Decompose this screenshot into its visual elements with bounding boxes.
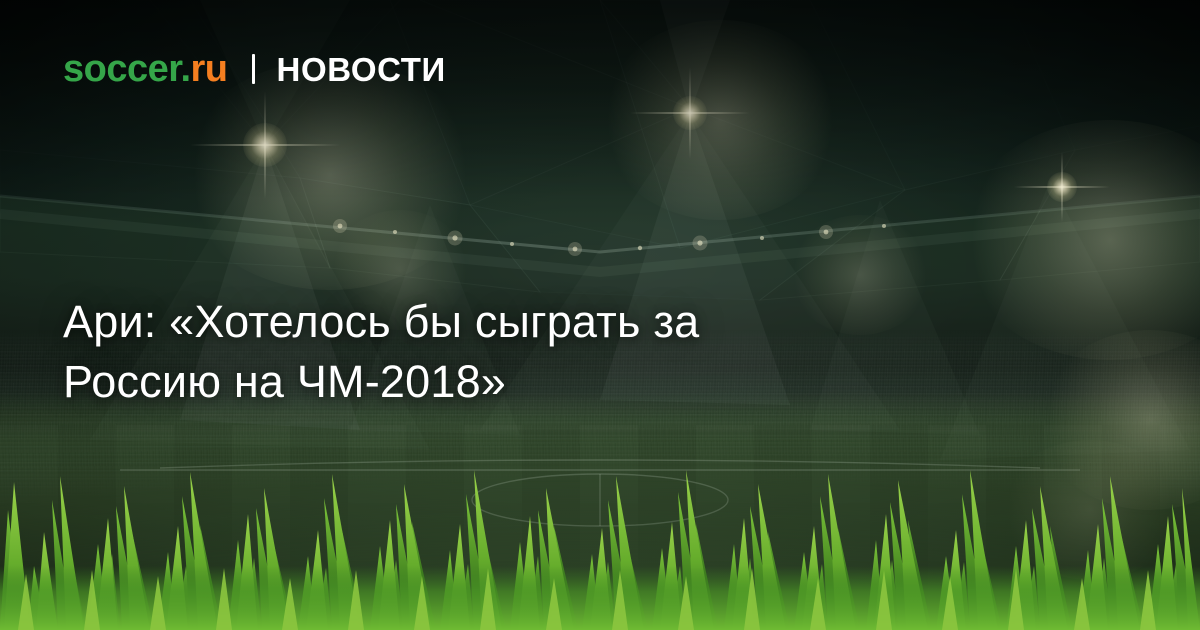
logo-dot: . <box>180 48 190 90</box>
logo-tld: ru <box>191 48 228 90</box>
news-share-card: soccer.ru НОВОСТИ Ари: «Хотелось бы сыгр… <box>0 0 1200 630</box>
section-label: НОВОСТИ <box>277 53 446 86</box>
headline-line-2: Россию на ЧМ-2018» <box>63 352 963 412</box>
soccer-ru-logo[interactable]: soccer.ru <box>63 50 228 88</box>
page-title: Ари: «Хотелось бы сыграть за Россию на Ч… <box>63 292 963 412</box>
brand-bar[interactable]: soccer.ru НОВОСТИ <box>63 47 446 91</box>
brand-separator <box>252 54 255 84</box>
card-content: soccer.ru НОВОСТИ Ари: «Хотелось бы сыгр… <box>0 0 1200 630</box>
logo-word: soccer <box>63 48 180 90</box>
headline-line-1: Ари: «Хотелось бы сыграть за <box>63 292 963 352</box>
